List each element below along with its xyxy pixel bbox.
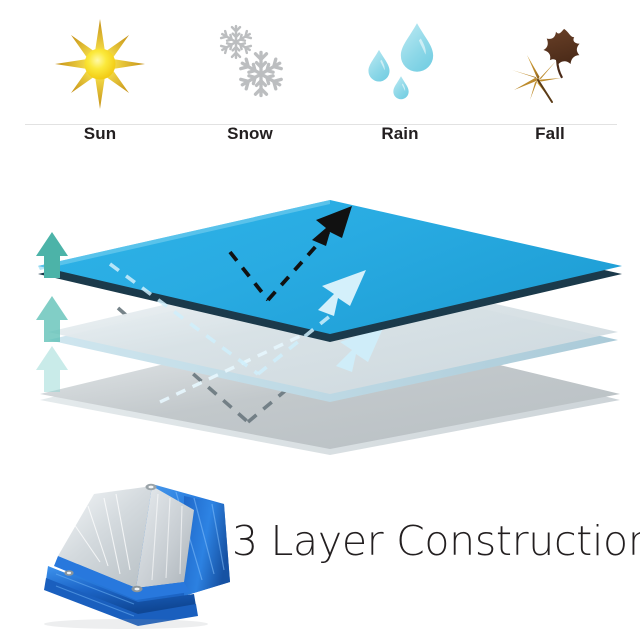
infographic-page: Sun (0, 0, 640, 640)
weather-label-sun: Sun (20, 124, 180, 144)
weather-strip: Sun (0, 0, 640, 175)
raindrop-icon (320, 18, 480, 110)
up-arrow-bottom (36, 346, 68, 392)
weather-divider (25, 124, 617, 125)
autumn-leaf-icon (470, 18, 630, 110)
snowflake-icon (170, 18, 330, 110)
construction-caption: 3 Layer Construction (232, 517, 632, 565)
weather-item-snow: Snow (170, 18, 330, 158)
weather-item-sun: Sun (20, 18, 180, 158)
weather-item-rain: Rain (320, 18, 480, 158)
layer-diagram (0, 190, 640, 460)
weather-item-fall: Fall (470, 18, 630, 158)
tarp-photo (34, 470, 249, 630)
weather-label-rain: Rain (320, 124, 480, 144)
weather-label-snow: Snow (170, 124, 330, 144)
sun-icon (20, 18, 180, 110)
bottom-section: 3 Layer Construction (0, 455, 640, 640)
weather-label-fall: Fall (470, 124, 630, 144)
